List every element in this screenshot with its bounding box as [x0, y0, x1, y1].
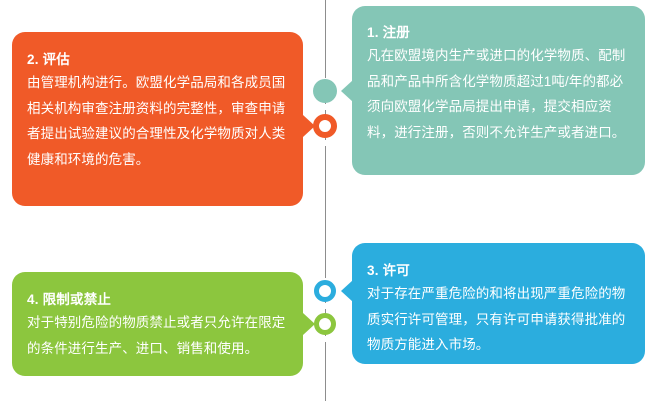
step-body-1: 凡在欧盟境内生产或进口的化学物质、配制品和产品中所含化学物质超过1吨/年的都必须… — [367, 43, 631, 145]
step-body-2: 由管理机构进行。欧盟化学品局和各成员国相关机构审查注册资料的完整性，审查申请者提… — [27, 70, 289, 172]
step-title-2: 2. 评估 — [27, 49, 289, 70]
axis-gap-bottom-c — [324, 336, 327, 342]
step-title-1: 1. 注册 — [367, 22, 631, 43]
axis-gap-lower — [324, 140, 327, 146]
axis-gap-bottom-b — [324, 303, 327, 309]
step-title-4: 4. 限制或禁止 — [27, 289, 289, 310]
axis-gap-mid — [324, 104, 327, 110]
step-title-3: 3. 许可 — [367, 260, 631, 281]
step-card-2[interactable]: 2. 评估 由管理机构进行。欧盟化学品局和各成员国相关机构审查注册资料的完整性，… — [12, 32, 303, 206]
step-card-4[interactable]: 4. 限制或禁止 对于特别危险的物质禁止或者只允许在限定的条件进行生产、进口、销… — [12, 272, 303, 376]
diagram-canvas: 1. 注册 凡在欧盟境内生产或进口的化学物质、配制品和产品中所含化学物质超过1吨… — [0, 0, 653, 401]
step-card-3[interactable]: 3. 许可 对于存在严重危险的和将出现严重危险的物质实行许可管理，只有许可申请获… — [352, 243, 645, 364]
step-marker-3[interactable] — [314, 280, 336, 302]
step-body-4: 对于特别危险的物质禁止或者只允许在限定的条件进行生产、进口、销售和使用。 — [27, 310, 289, 361]
step-tail-3 — [341, 280, 353, 302]
step-body-3: 对于存在严重危险的和将出现严重危险的物质实行许可管理，只有许可申请获得批准的物质… — [367, 281, 631, 358]
step-marker-1[interactable] — [313, 79, 337, 103]
step-marker-2[interactable] — [313, 114, 337, 138]
step-marker-4[interactable] — [314, 313, 336, 335]
step-card-1[interactable]: 1. 注册 凡在欧盟境内生产或进口的化学物质、配制品和产品中所含化学物质超过1吨… — [352, 6, 645, 175]
step-tail-1 — [341, 80, 353, 102]
